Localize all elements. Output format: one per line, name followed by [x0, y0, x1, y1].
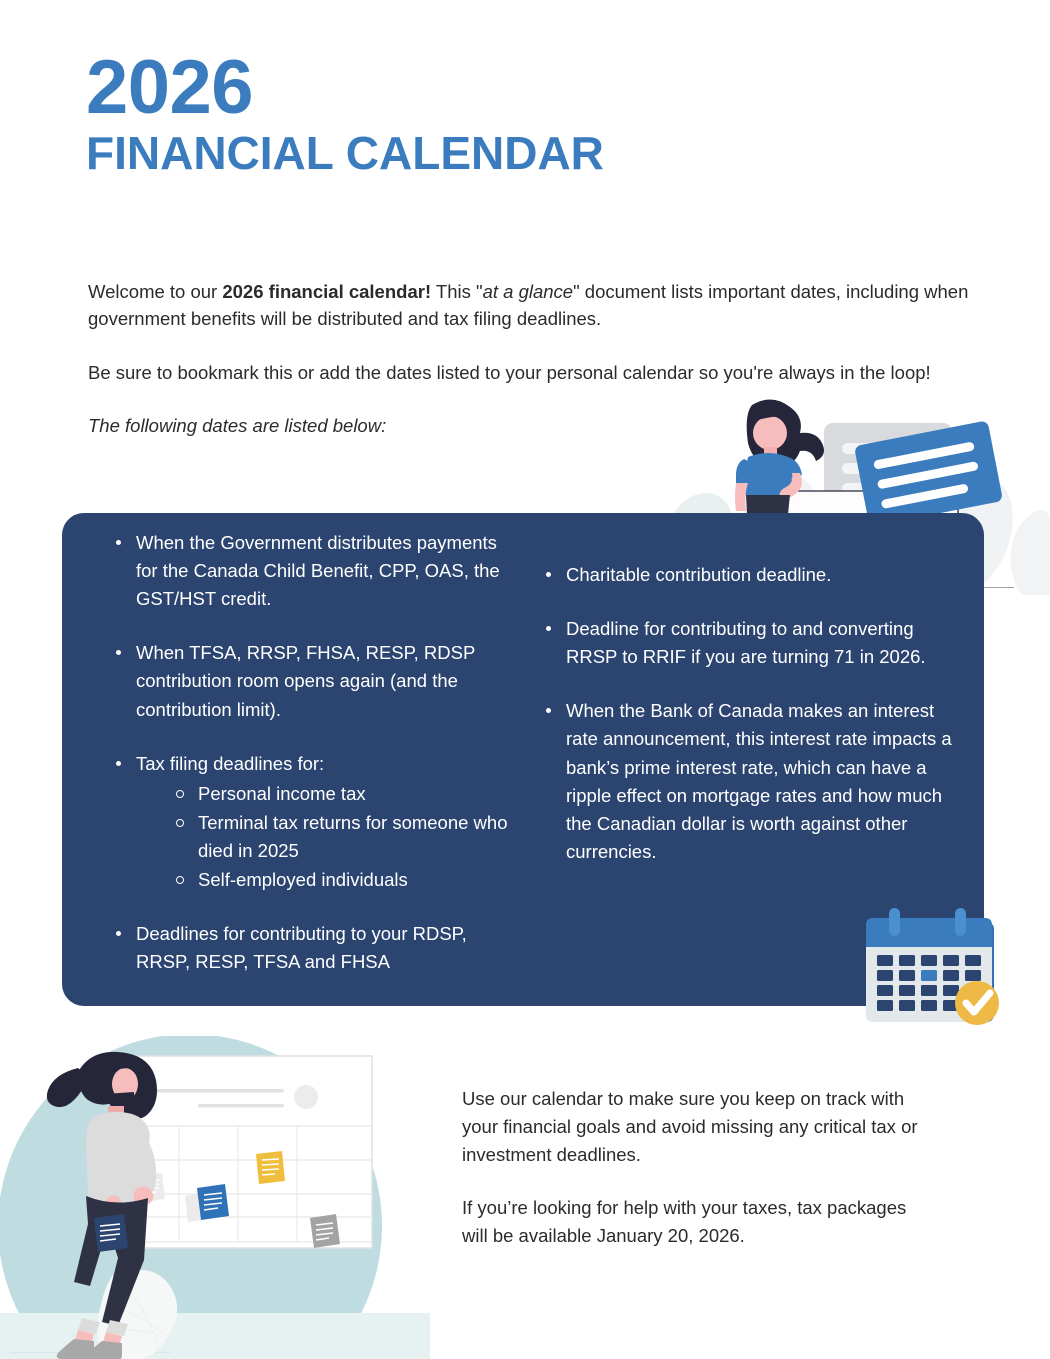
leaf-foreground [97, 1270, 177, 1359]
sub-bullet-text: Personal income tax [198, 783, 366, 804]
bullet-text: Deadlines for contributing to your RDSP,… [136, 923, 467, 972]
panel-right-column: Charitable contribution deadline. Deadli… [522, 513, 984, 1006]
sticky-note-yellow [256, 1151, 285, 1184]
list-item: Charitable contribution deadline. [536, 561, 960, 589]
sticky-note-gray-1 [140, 1173, 165, 1202]
woman-figure [47, 1052, 157, 1359]
decorative-rule [984, 587, 1014, 588]
panel-left-column: When the Government distributes payments… [62, 513, 522, 1006]
bullet-text: When the Government distributes payments… [136, 532, 500, 609]
intro-text-block: Welcome to our 2026 financial calendar! … [88, 278, 978, 440]
list-item: Deadlines for contributing to your RDSP,… [106, 920, 512, 976]
document-page: 2026 FINANCIAL CALENDAR Welcome to our 2… [0, 0, 1050, 1359]
outro-paragraph-2: If you’re looking for help with your tax… [462, 1194, 932, 1250]
intro-p1-segment-2: This " [431, 281, 482, 302]
sub-bullet-text: Terminal tax returns for someone who die… [198, 812, 508, 861]
list-item: Tax filing deadlines for: Personal incom… [106, 750, 512, 895]
intro-p1-bold: 2026 financial calendar! [222, 281, 431, 302]
list-item: When the Bank of Canada makes an interes… [536, 697, 960, 866]
intro-paragraph-2: Be sure to bookmark this or add the date… [88, 359, 978, 386]
outro-paragraph-1: Use our calendar to make sure you keep o… [462, 1085, 932, 1168]
bullet-text: When TFSA, RRSP, FHSA, RESP, RDSP contri… [136, 642, 475, 719]
sub-bullet-text: Self-employed individuals [198, 869, 408, 890]
calendar-board [120, 1056, 372, 1248]
page-title-year: 2026 [86, 52, 786, 124]
page-header: 2026 FINANCIAL CALENDAR [86, 52, 786, 180]
left-bullet-list: When the Government distributes payments… [106, 529, 512, 976]
right-bullet-list: Charitable contribution deadline. Deadli… [536, 561, 960, 866]
sticky-note-navy-held [94, 1214, 128, 1252]
outro-text-block: Use our calendar to make sure you keep o… [462, 1085, 932, 1250]
sticky-note-blue [185, 1184, 229, 1222]
key-dates-panel: When the Government distributes payments… [62, 513, 984, 1006]
page-title: FINANCIAL CALENDAR [86, 128, 786, 180]
bullet-text: Tax filing deadlines for: [136, 753, 324, 774]
bullet-text: Deadline for contributing to and convert… [566, 618, 926, 667]
bullet-text: When the Bank of Canada makes an interes… [566, 700, 952, 862]
list-item: Self-employed individuals [168, 866, 512, 894]
intro-paragraph-1: Welcome to our 2026 financial calendar! … [88, 278, 978, 333]
list-item: When TFSA, RRSP, FHSA, RESP, RDSP contri… [106, 639, 512, 723]
tax-filing-sublist: Personal income tax Terminal tax returns… [136, 780, 512, 894]
intro-lead-in: The following dates are listed below: [88, 412, 978, 439]
list-item: Terminal tax returns for someone who die… [168, 809, 512, 865]
woman-at-calendar-board-illustration [0, 1036, 430, 1359]
bullet-text: Charitable contribution deadline. [566, 564, 831, 585]
list-item: Deadline for contributing to and convert… [536, 615, 960, 671]
intro-p1-segment-1: Welcome to our [88, 281, 222, 302]
list-item: When the Government distributes payments… [106, 529, 512, 613]
intro-p1-italic: at a glance [483, 281, 574, 302]
sticky-note-gray-2 [310, 1214, 340, 1248]
list-item: Personal income tax [168, 780, 512, 808]
